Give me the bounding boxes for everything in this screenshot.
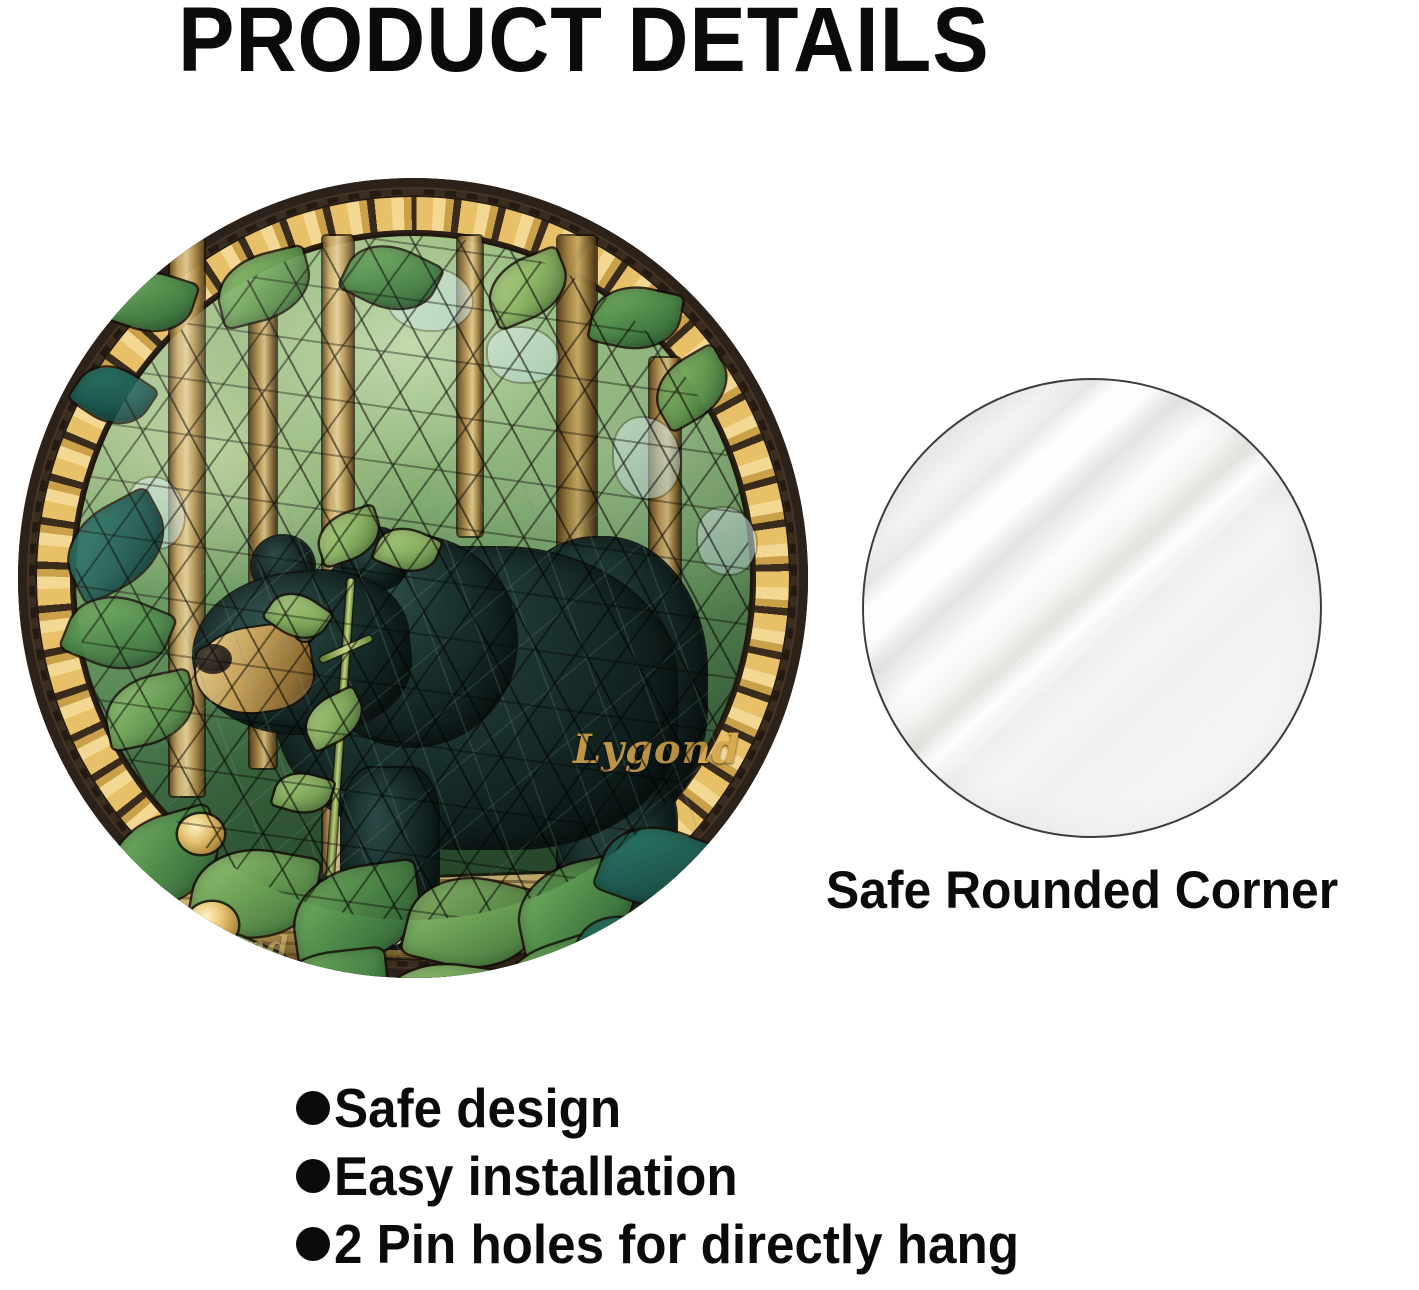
surface-texture	[864, 380, 1320, 836]
page-title: PRODUCT DETAILS	[178, 0, 990, 89]
stained-glass-lead-cells	[76, 236, 750, 920]
feature-label: 2 Pin holes for directly hang	[334, 1212, 1019, 1276]
feature-label: Easy installation	[334, 1144, 738, 1208]
filled-circle-bullet-icon	[296, 1091, 330, 1125]
list-item: Easy installation	[296, 1142, 1071, 1210]
flower-bloom	[186, 902, 238, 948]
list-item: Safe design	[296, 1074, 1071, 1142]
feature-list: Safe design Easy installation 2 Pin hole…	[296, 1074, 1071, 1278]
rounded-corner-closeup-photo[interactable]	[862, 378, 1322, 838]
rounded-corner-caption: Safe Rounded Corner	[826, 860, 1390, 921]
filled-circle-bullet-icon	[296, 1159, 330, 1193]
filled-circle-bullet-icon	[296, 1227, 330, 1261]
feature-label: Safe design	[334, 1076, 621, 1140]
product-image-stained-glass-bear[interactable]: Lygond Lygond	[18, 178, 808, 978]
list-item: 2 Pin holes for directly hang	[296, 1210, 1071, 1278]
